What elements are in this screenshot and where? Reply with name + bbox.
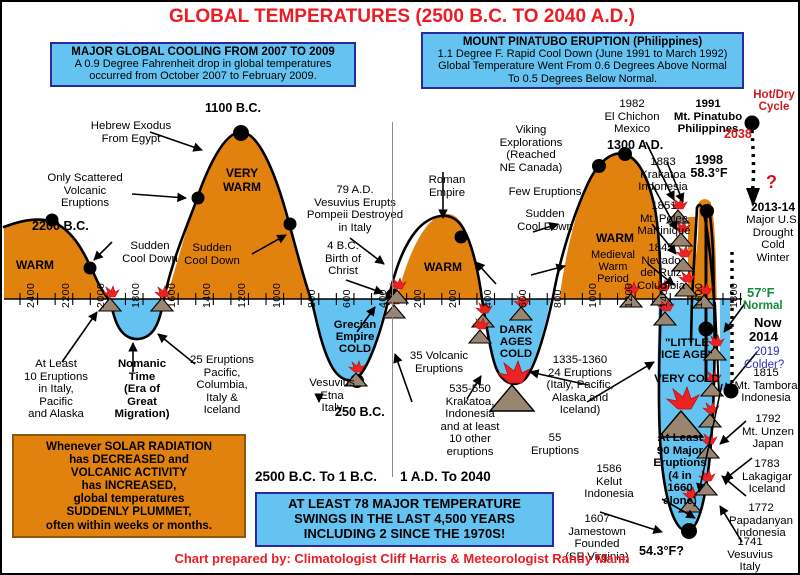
axis-tick-label: 1800 (728, 283, 740, 308)
peak-label-2200bc: 2200 B.C. (32, 220, 89, 234)
axis-tick-label: 1600 (166, 283, 178, 308)
hot-dry-cycle-label: Hot/Dry Cycle (746, 89, 800, 113)
band-label-warm-1: WARM (16, 258, 54, 272)
annotation-at-least-10-eruptions: At Least 10 Eruptions in Italy, Pacific … (7, 358, 105, 421)
annotation-papadanyan-1772: 1772 Papadanyan Indonesia (723, 502, 799, 540)
annotation-35-volcanic-eruptions: 35 Volcanic Eruptions (400, 350, 478, 375)
band-label-warm-2: WARM (424, 260, 462, 274)
chart-credit: Chart prepared by: Climatologist Cliff H… (2, 551, 800, 566)
now-year-label: 2014 (749, 329, 778, 344)
annotation-unzen-1792: 1792 Mt. Unzen Japan (737, 413, 799, 451)
annotation-nomadic-time: Nomanic Time (Era of Great Migration) (106, 358, 178, 421)
axis-tick-label: 800 (552, 289, 564, 308)
annotation-ninety-eruptions: At Least 90 Major Eruptions (4 in 1660 a… (647, 432, 713, 507)
axis-tick-label: 1400 (201, 283, 213, 308)
era-span-bc: 2500 B.C. To 1 B.C. (255, 469, 377, 484)
axis-tick-label: 200 (412, 289, 424, 308)
summary-box-temperature-swings: AT LEAST 78 MAJOR TEMPERATURE SWINGS IN … (255, 492, 554, 547)
annotation-55-eruptions: 55 Eruptions (522, 432, 588, 457)
normal-word-label: Normal (743, 300, 783, 312)
annotation-roman-empire: Roman Empire (414, 174, 480, 199)
annotation-25-eruptions: 25 Eruptions Pacific, Columbia, Italy & … (180, 354, 264, 417)
annotation-kelut-1586: 1586 Kelut Indonesia (576, 463, 642, 501)
era-divider (392, 122, 393, 477)
axis-tick-label: 1800 (130, 283, 142, 308)
annotation-vesuvius-79ad: 79 A.D. Vesuvius Erupts Pompeii Destroye… (292, 184, 418, 234)
axis-tick-label: 600 (341, 289, 353, 308)
peak-label-1100bc: 1100 B.C. (205, 102, 261, 116)
annotation-krakatoa-1883: 1883 Krakatoa Indonesia (627, 156, 699, 194)
year-2038-label: 2038 (724, 127, 752, 141)
annotation-tambora-1815: 1815 Mt. Tambora Indonesia (731, 367, 800, 405)
summary-box-solar-volcanic: Whenever SOLAR RADIATION has DECREASED a… (12, 434, 246, 538)
annotation-hebrew-exodus: Hebrew Exodus From Egypt (72, 120, 190, 145)
annotation-viking-explorations: Viking Explorations (Reached NE Canada) (483, 124, 579, 174)
axis-tick-label: 2400 (25, 283, 37, 308)
chart-frame: GLOBAL TEMPERATURES (2500 B.C. TO 2040 A… (0, 0, 800, 575)
axis-tick-label: 1000 (271, 283, 283, 308)
band-label-very-warm: VERY WARM (214, 166, 270, 194)
axis-tick-label: 2200 (60, 283, 72, 308)
annotation-sudden-cool-3: Sudden Cool Down (503, 208, 587, 233)
colder-year-label: 2019 (754, 346, 780, 358)
axis-tick-label: 200 (447, 289, 459, 308)
annotation-lakagigar-1783: 1783 Lakagigar Iceland (735, 458, 799, 496)
axis-tick-label: 800 (306, 289, 318, 308)
axis-tick-label: 1000 (587, 283, 599, 308)
annotation-nevado-del-ruiz: 1845 Nevado del Ruiz Columbia (626, 242, 696, 292)
annotation-sudden-cool-2: Sudden Cool Down (170, 242, 254, 267)
question-mark-label: ? (766, 172, 777, 193)
era-span-ad: 1 A.D. To 2040 (400, 469, 491, 484)
axis-tick-label: 1200 (236, 283, 248, 308)
annotation-el-chichon: 1982 El Chichon Mexico (592, 98, 672, 136)
annotation-birth-of-christ: 4 B.C. Birth of Christ (309, 240, 377, 278)
axis-tick-label: 400 (377, 289, 389, 308)
axis-tick-label: 2000 (95, 283, 107, 308)
annotation-vesuvius-etna: Vesuvius Etna Italy (298, 377, 366, 415)
annotation-mt-pelee-1851: 1851 Mt. Pelee Martinique (628, 200, 700, 238)
now-label: Now (754, 315, 781, 330)
band-label-dark-ages: DARK AGES COLD (492, 324, 540, 360)
axis-tick-label: 400 (482, 289, 494, 308)
colder-label: Colder? (744, 359, 784, 371)
band-label-little-ice-age: "LITTLE ICE AGE" VERY COLD (645, 338, 729, 386)
annotation-krakatoa-535: 535-550 Krakatoa, Indonesia and at least… (426, 383, 514, 458)
annotation-drought-2013: 2013-14 Major U.S. Drought Cold Winter (744, 201, 800, 264)
annotation-few-eruptions: Few Eruptions (499, 186, 591, 199)
normal-temp-label: 57°F (747, 285, 775, 300)
peak-label-1300ad: 1300 A.D. (607, 139, 663, 153)
axis-tick-label: 600 (517, 289, 529, 308)
annotation-eruptions-1335: 1335-1360 24 Eruptions (Italy, Pacific, … (535, 354, 625, 417)
band-label-grecian-empire: Grecian Empire COLD (325, 319, 385, 355)
annotation-scattered-volcanic: Only Scattered Volcanic Eruptions (30, 172, 140, 210)
